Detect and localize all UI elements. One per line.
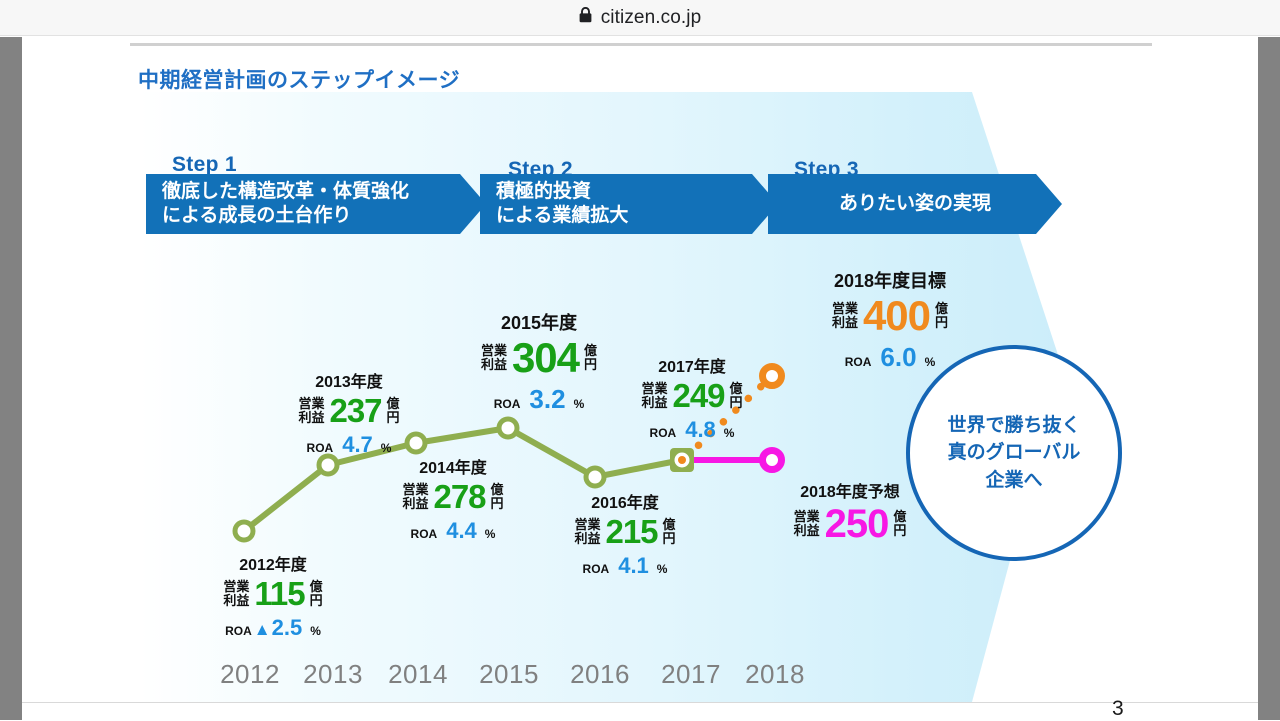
roa-percent: %: [485, 527, 496, 541]
lock-icon: [579, 7, 592, 28]
callout-roa-row: ROA 3.2 %: [450, 384, 628, 415]
callout-roa-row: ROA ▲ 2.5 %: [194, 615, 352, 641]
profit-label: 営業 利益: [481, 344, 507, 371]
profit-unit: 億 円: [491, 483, 504, 510]
browser-url-bar[interactable]: citizen.co.jp: [0, 0, 1280, 36]
profit-value: 215: [605, 515, 657, 548]
page-number: 3: [1112, 697, 1124, 721]
callout-profit-row: 営業 利益 115 億 円: [194, 577, 352, 610]
roa-value: 2.5: [272, 615, 303, 641]
callout-profit-row: 営業 利益 249 億 円: [616, 379, 768, 412]
roa-label: ROA: [225, 624, 252, 638]
page-frame: 中期経営計画のステップイメージ Step 1 Step 2 Step 3 徹底し…: [0, 37, 1280, 720]
callout-profit-row: 営業 利益 278 億 円: [374, 480, 532, 513]
step-1-banner-text: 徹底した構造改革・体質強化 による成長の土台作り: [162, 180, 409, 229]
profit-unit: 億 円: [935, 302, 948, 329]
roa-label: ROA: [583, 562, 610, 576]
title-rule: [130, 43, 1152, 46]
roa-label: ROA: [411, 527, 438, 541]
roa-value: 4.1: [618, 553, 649, 579]
slide-footer: [22, 702, 1258, 720]
profit-label: 営業 利益: [298, 397, 324, 424]
roa-percent: %: [657, 562, 668, 576]
callout-year: 2017年度: [616, 353, 768, 377]
callout-year: 2018年度目標: [800, 267, 980, 293]
roa-label: ROA: [307, 441, 334, 455]
roa-value: 4.4: [446, 518, 477, 544]
callout-2016: 2016年度 営業 利益 215 億 円 ROA 4.1 %: [544, 489, 706, 579]
step-1-number: Step 1: [172, 153, 237, 177]
callout-roa-row: ROA 4.4 %: [374, 518, 532, 544]
axis-year-2014: 2014: [372, 659, 464, 690]
callout-2015: 2015年度 営業 利益 304 億 円 ROA 3.2 %: [450, 309, 628, 415]
step-3-banner-text: ありたい姿の実現: [839, 192, 991, 216]
profit-unit: 億 円: [584, 344, 597, 371]
roa-percent: %: [310, 624, 321, 638]
profit-value: 237: [329, 394, 381, 427]
step-2-banner-text: 積極的投資 による業績拡大: [496, 180, 628, 229]
axis-year-2016: 2016: [554, 659, 646, 690]
axis-year-2017: 2017: [645, 659, 737, 690]
profit-label: 営業 利益: [794, 510, 820, 537]
right-gutter: [1258, 37, 1280, 720]
roa-percent: %: [925, 355, 936, 369]
roa-value: 3.2: [529, 384, 565, 415]
profit-value: 115: [254, 577, 304, 610]
profit-unit: 億 円: [730, 382, 743, 409]
profit-value: 250: [825, 504, 889, 544]
profit-unit: 億 円: [893, 510, 906, 537]
roa-percent: %: [724, 426, 735, 440]
axis-year-2015: 2015: [463, 659, 555, 690]
page-title: 中期経営計画のステップイメージ: [138, 64, 460, 94]
profit-label: 営業 利益: [402, 483, 428, 510]
profit-unit: 億 円: [663, 518, 676, 545]
url-wrap[interactable]: citizen.co.jp: [579, 7, 702, 29]
callout-year: 2014年度: [374, 454, 532, 478]
callout-roa-row: ROA 4.1 %: [544, 553, 706, 579]
callout-year: 2015年度: [450, 309, 628, 335]
step-2-banner[interactable]: 積極的投資 による業績拡大: [480, 174, 778, 234]
roa-percent: %: [574, 397, 585, 411]
axis-year-2018: 2018: [729, 659, 821, 690]
slide-canvas: 中期経営計画のステップイメージ Step 1 Step 2 Step 3 徹底し…: [22, 37, 1258, 702]
callout-year: 2012年度: [194, 551, 352, 575]
profit-value: 400: [863, 295, 930, 337]
callout-profit-row: 営業 利益 237 億 円: [270, 394, 428, 427]
profit-label: 営業 利益: [641, 382, 667, 409]
callout-roa-row: ROA 4.8 %: [616, 417, 768, 443]
profit-label: 営業 利益: [223, 580, 249, 607]
profit-unit: 億 円: [387, 397, 400, 424]
profit-value: 249: [672, 379, 724, 412]
roa-value: 4.8: [685, 417, 716, 443]
callout-year: 2016年度: [544, 489, 706, 513]
callout-2012: 2012年度 営業 利益 115 億 円 ROA ▲ 2.5 %: [194, 551, 352, 641]
step-3-banner[interactable]: ありたい姿の実現: [768, 174, 1062, 234]
roa-negative-triangle-icon: ▲: [254, 620, 271, 640]
axis-year-2013: 2013: [287, 659, 379, 690]
axis-year-2012: 2012: [204, 659, 296, 690]
callout-profit-row: 営業 利益 304 億 円: [450, 337, 628, 379]
roa-label: ROA: [494, 397, 521, 411]
left-gutter: [0, 37, 22, 720]
profit-value: 278: [433, 480, 485, 513]
callout-profit-row: 営業 利益 400 億 円: [800, 295, 980, 337]
callout-profit-row: 営業 利益 250 億 円: [762, 504, 938, 544]
vision-text: 世界で勝ち抜く 真のグローバル 企業へ: [947, 412, 1080, 495]
callout-2014: 2014年度 営業 利益 278 億 円 ROA 4.4 %: [374, 454, 532, 544]
step-1-banner[interactable]: 徹底した構造改革・体質強化 による成長の土台作り: [146, 174, 486, 234]
vision-circle: 世界で勝ち抜く 真のグローバル 企業へ: [906, 345, 1122, 561]
profit-label: 営業 利益: [832, 302, 858, 329]
callout-2013: 2013年度 営業 利益 237 億 円 ROA 4.7 %: [270, 368, 428, 458]
profit-value: 304: [512, 337, 579, 379]
roa-label: ROA: [845, 355, 872, 369]
profit-label: 営業 利益: [574, 518, 600, 545]
callout-year: 2013年度: [270, 368, 428, 392]
roa-percent: %: [381, 441, 392, 455]
callout-2017: 2017年度 営業 利益 249 億 円 ROA 4.8 %: [616, 353, 768, 443]
roa-label: ROA: [650, 426, 677, 440]
callout-2018-target: 2018年度目標 営業 利益 400 億 円 ROA 6.0 %: [800, 267, 980, 373]
roa-value: 4.7: [342, 432, 373, 458]
profit-unit: 億 円: [310, 580, 323, 607]
url-text: citizen.co.jp: [601, 7, 702, 29]
roa-value: 6.0: [880, 342, 916, 373]
callout-profit-row: 営業 利益 215 億 円: [544, 515, 706, 548]
